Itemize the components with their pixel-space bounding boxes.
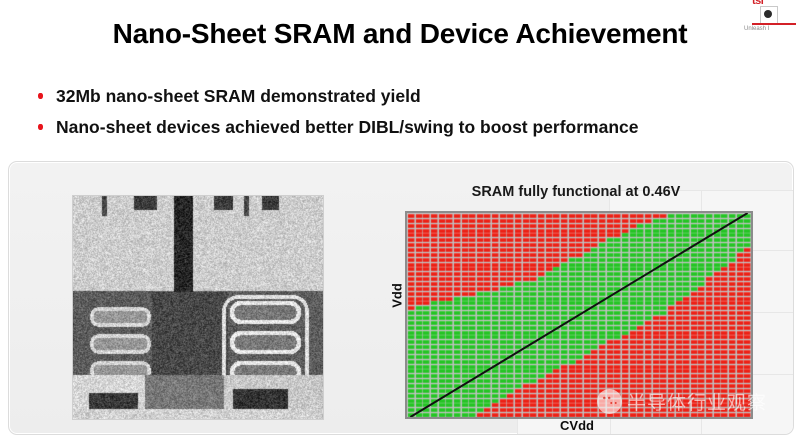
chart-y-axis-label: Vdd [390,266,405,326]
tem-canvas [73,196,323,419]
schmoo-chart: SRAM fully functional at 0.46V Vdd CVdd [380,180,780,435]
schmoo-canvas [407,213,751,417]
bullet-text: Nano-sheet devices achieved better DIBL/… [56,117,639,138]
page-title: Nano-Sheet SRAM and Device Achievement [0,18,800,50]
list-item: 32Mb nano-sheet SRAM demonstrated yield [38,86,778,108]
chart-plot-area [405,211,753,419]
bullet-list: 32Mb nano-sheet SRAM demonstrated yield … [38,86,778,148]
bullet-dot-icon [38,117,47,139]
bullet-dot-icon [38,86,47,108]
list-item: Nano-sheet devices achieved better DIBL/… [38,117,778,139]
slide-root: tsi Unleash I Nano-Sheet SRAM and Device… [0,0,800,440]
tem-cross-section-image [72,195,324,420]
bullet-text: 32Mb nano-sheet SRAM demonstrated yield [56,86,421,107]
chart-title: SRAM fully functional at 0.46V [406,184,746,200]
chart-x-axis-label: CVdd [405,418,749,433]
